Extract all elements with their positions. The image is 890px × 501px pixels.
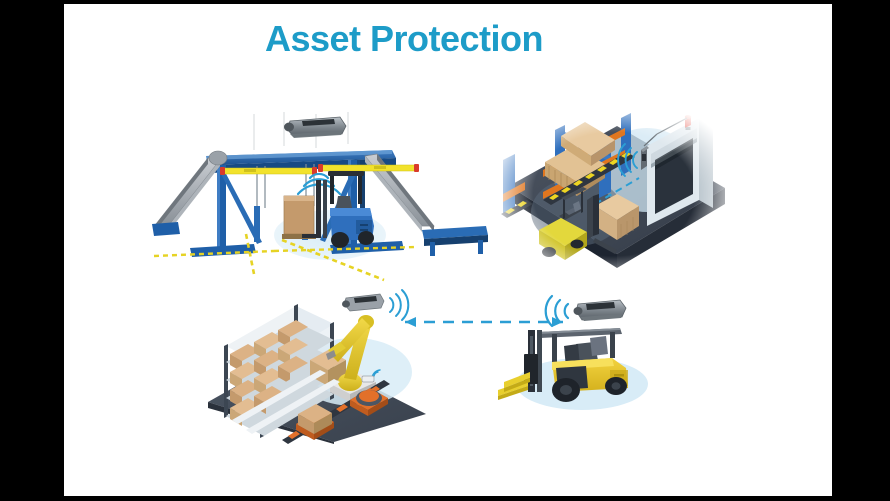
pallet-load [282, 196, 316, 239]
safety-light-bar-right [318, 164, 419, 172]
slide-frame: Asset Protection [0, 0, 890, 501]
page-title: Asset Protection [64, 18, 744, 60]
slide-canvas: Asset Protection [64, 4, 832, 496]
sensor-device [342, 294, 384, 311]
safety-light-bar-left [220, 167, 317, 175]
gripper-sensor-device [362, 376, 374, 382]
left-conveyor [152, 151, 227, 236]
illustration-warehouse-dock-scene [499, 108, 729, 280]
sensor-device [574, 300, 627, 321]
signal-waves [546, 296, 568, 326]
illustration-robot-shelving-scene [204, 284, 444, 444]
illustration-gantry-conveyor-scene [134, 108, 494, 283]
frame-bottom-strip [0, 496, 890, 501]
overhead-sensor-device [284, 117, 346, 138]
illustration-forklift-sensor-scene [494, 292, 674, 417]
vignette-mask [489, 98, 739, 290]
arrow-head-left [405, 317, 416, 327]
yellow-forklift [498, 328, 628, 402]
